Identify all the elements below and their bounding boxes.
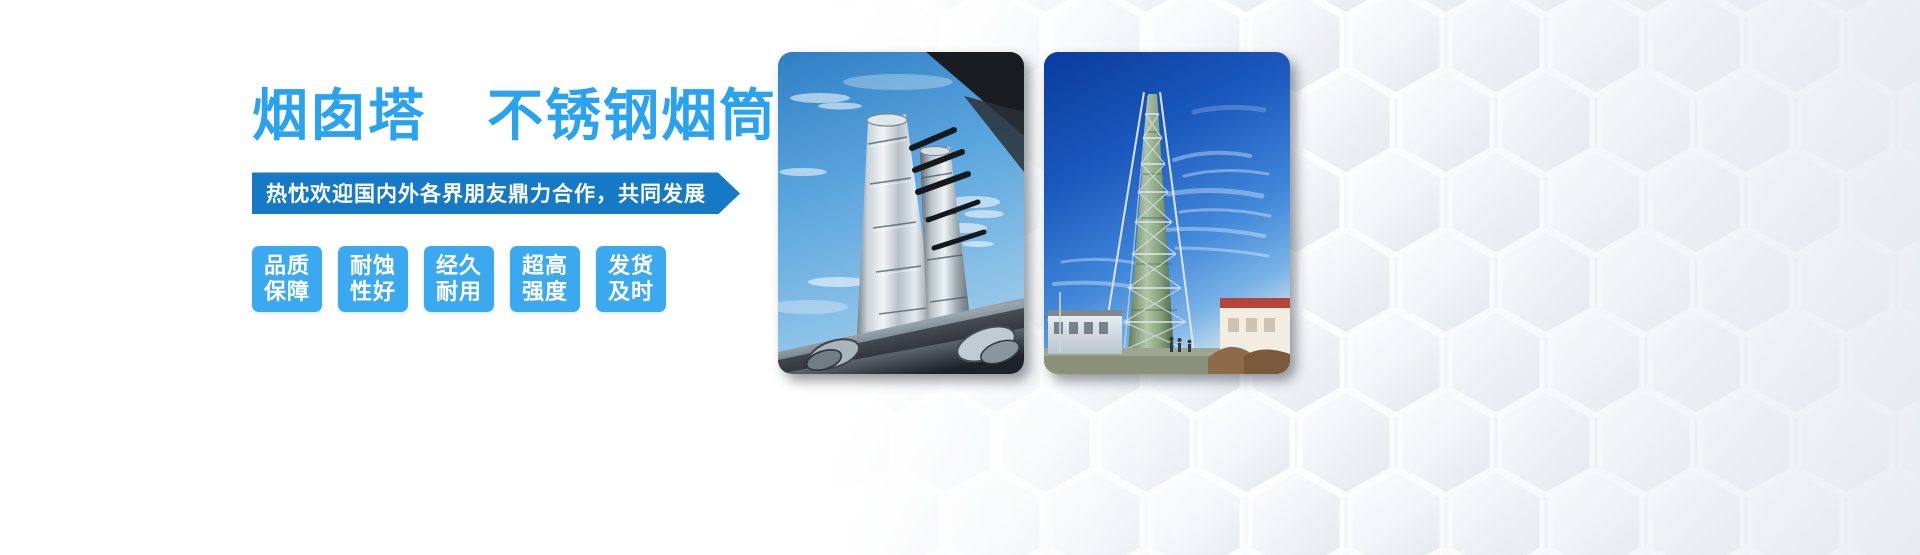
stainless-steel-chimney-stacks-photo[interactable] [778,52,1024,374]
lattice-chimney-tower-photo[interactable] [1044,52,1290,374]
badge-line-2: 耐用 [436,279,482,306]
feature-badge-fast-delivery[interactable]: 发货 及时 [596,246,666,312]
feature-badge-durability[interactable]: 经久 耐用 [424,246,494,312]
headline-secondary: 不锈钢烟筒 [487,84,777,147]
badge-line-2: 强度 [522,279,568,306]
right-edge-wash [1300,0,1920,555]
feature-badge-quality[interactable]: 品质 保障 [252,246,322,312]
subtitle-ribbon-wrapper: 热忱欢迎国内外各界朋友鼎力合作，共同发展 [252,172,812,214]
badge-line-1: 品质 [264,253,310,280]
feature-badge-corrosion-resistance[interactable]: 耐蚀 性好 [338,246,408,312]
badge-line-2: 性好 [350,279,396,306]
badge-line-1: 超高 [522,253,568,280]
promo-banner: 烟囱塔 不锈钢烟筒 热忱欢迎国内外各界朋友鼎力合作，共同发展 品质 保障 耐蚀 … [0,0,1920,555]
subtitle-ribbon: 热忱欢迎国内外各界朋友鼎力合作，共同发展 [252,172,740,214]
badge-line-2: 保障 [264,279,310,306]
headline-block: 烟囱塔 不锈钢烟筒 热忱欢迎国内外各界朋友鼎力合作，共同发展 品质 保障 耐蚀 … [252,86,812,312]
headline-primary: 烟囱塔 [252,84,426,147]
badge-line-1: 耐蚀 [350,253,396,280]
badge-line-1: 发货 [608,253,654,280]
feature-badge-list: 品质 保障 耐蚀 性好 经久 耐用 超高 强度 发货 及时 [252,246,812,312]
badge-line-2: 及时 [608,279,654,306]
feature-badge-high-strength[interactable]: 超高 强度 [510,246,580,312]
page-title: 烟囱塔 不锈钢烟筒 [252,86,812,146]
badge-line-1: 经久 [436,253,482,280]
